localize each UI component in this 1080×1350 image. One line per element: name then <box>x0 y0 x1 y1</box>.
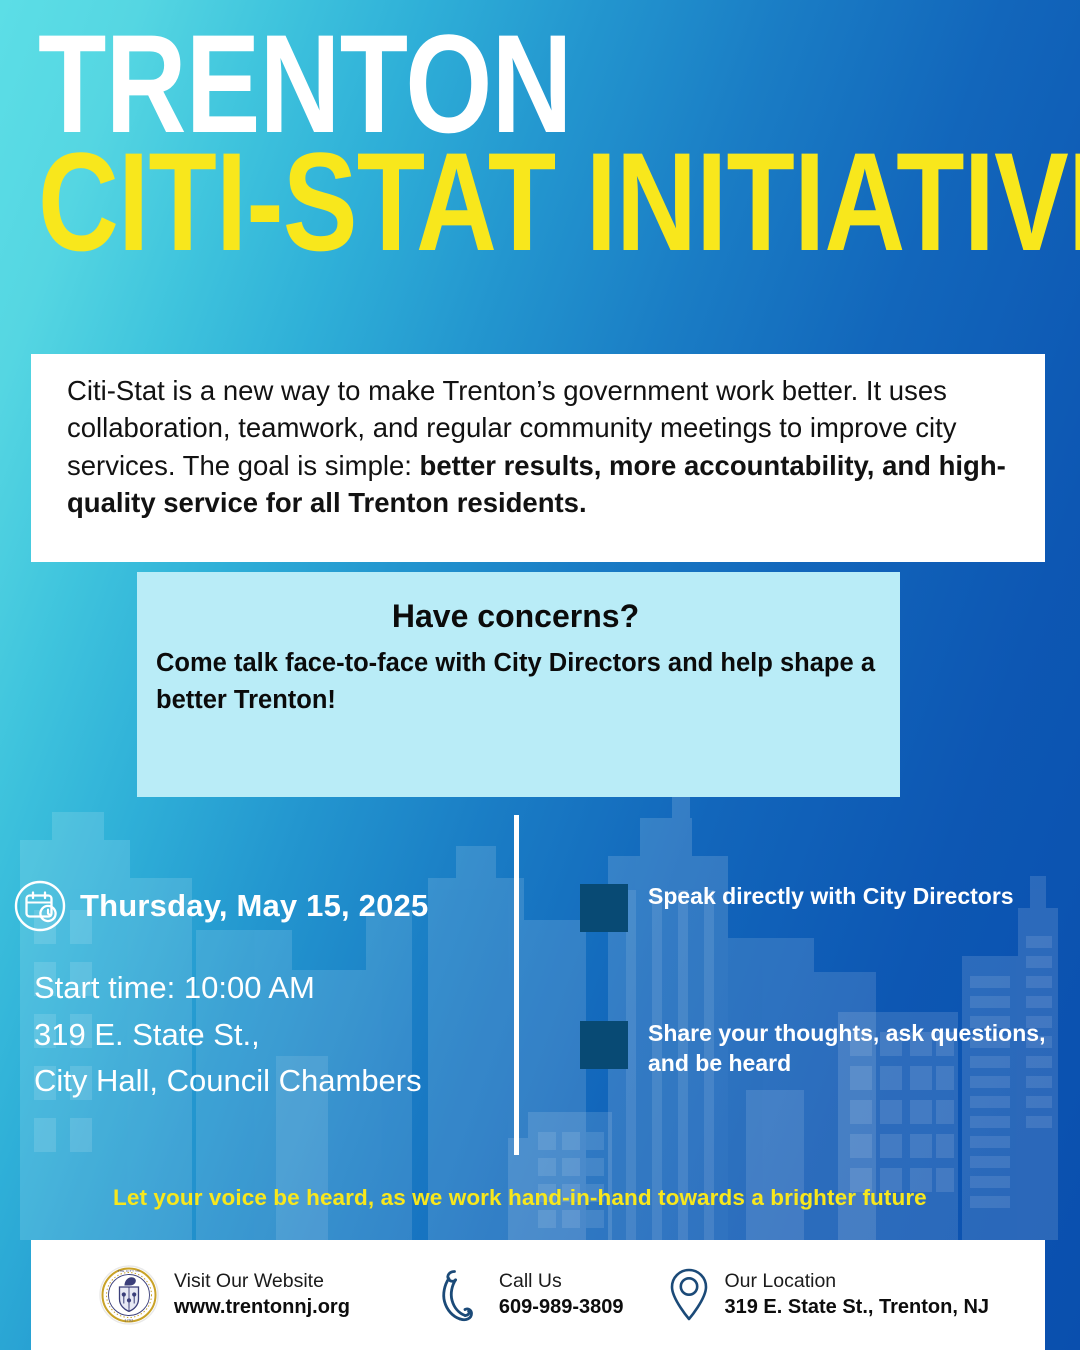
benefit-text: Share your thoughts, ask questions, and … <box>648 1019 1045 1079</box>
vertical-divider <box>514 815 519 1155</box>
list-item: Share your thoughts, ask questions, and … <box>580 1019 1080 1079</box>
intro-description-box: Citi-Stat is a new way to make Trenton’s… <box>31 354 1045 562</box>
event-date-text: Thursday, May 15, 2025 <box>80 888 428 924</box>
footer-website-item[interactable]: THE CITY OF 1792 Visit Our Website www.t… <box>97 1263 350 1327</box>
footer-location-item[interactable]: Our Location 319 E. State St., Trenton, … <box>667 1266 989 1324</box>
title-line-secondary: CITI-STAT INITIATIVE <box>38 136 846 268</box>
call-to-action-tagline: Let your voice be heard, as we work hand… <box>113 1185 927 1211</box>
phone-icon <box>436 1267 486 1323</box>
footer-phone-value[interactable]: 609-989-3809 <box>499 1294 624 1321</box>
list-item: Speak directly with City Directors <box>580 882 1080 932</box>
flyer-canvas: TRENTON CITI-STAT INITIATIVE Citi-Stat i… <box>0 0 1080 1350</box>
benefits-list: Speak directly with City Directors Share… <box>580 882 1080 1079</box>
benefit-text: Speak directly with City Directors <box>648 882 1014 912</box>
footer-phone-label: Call Us <box>499 1269 624 1294</box>
event-venue-details: Start time: 10:00 AM 319 E. State St., C… <box>34 965 422 1105</box>
concerns-body-text: Come talk face-to-face with City Directo… <box>156 645 875 719</box>
map-pin-icon <box>667 1266 711 1324</box>
concerns-heading: Have concerns? <box>156 598 875 635</box>
footer-contact-bar: THE CITY OF 1792 Visit Our Website www.t… <box>31 1240 1045 1350</box>
calendar-clock-icon <box>14 880 66 932</box>
footer-website-value[interactable]: www.trentonnj.org <box>174 1294 350 1321</box>
footer-location-value[interactable]: 319 E. State St., Trenton, NJ <box>724 1294 989 1321</box>
svg-text:1792: 1792 <box>124 1318 133 1322</box>
city-of-trenton-seal-icon: THE CITY OF 1792 <box>97 1263 161 1327</box>
footer-location-label: Our Location <box>724 1269 989 1294</box>
intro-paragraph: Citi-Stat is a new way to make Trenton’s… <box>67 372 1011 522</box>
bullet-square-icon <box>580 884 628 932</box>
footer-website-label: Visit Our Website <box>174 1269 350 1294</box>
footer-phone-item[interactable]: Call Us 609-989-3809 <box>436 1267 624 1323</box>
flyer-title-block: TRENTON CITI-STAT INITIATIVE <box>38 18 1048 267</box>
event-date-row: Thursday, May 15, 2025 <box>14 880 428 932</box>
svg-text:THE CITY OF: THE CITY OF <box>117 1269 140 1273</box>
have-concerns-box: Have concerns? Come talk face-to-face wi… <box>137 572 900 797</box>
bullet-square-icon <box>580 1021 628 1069</box>
